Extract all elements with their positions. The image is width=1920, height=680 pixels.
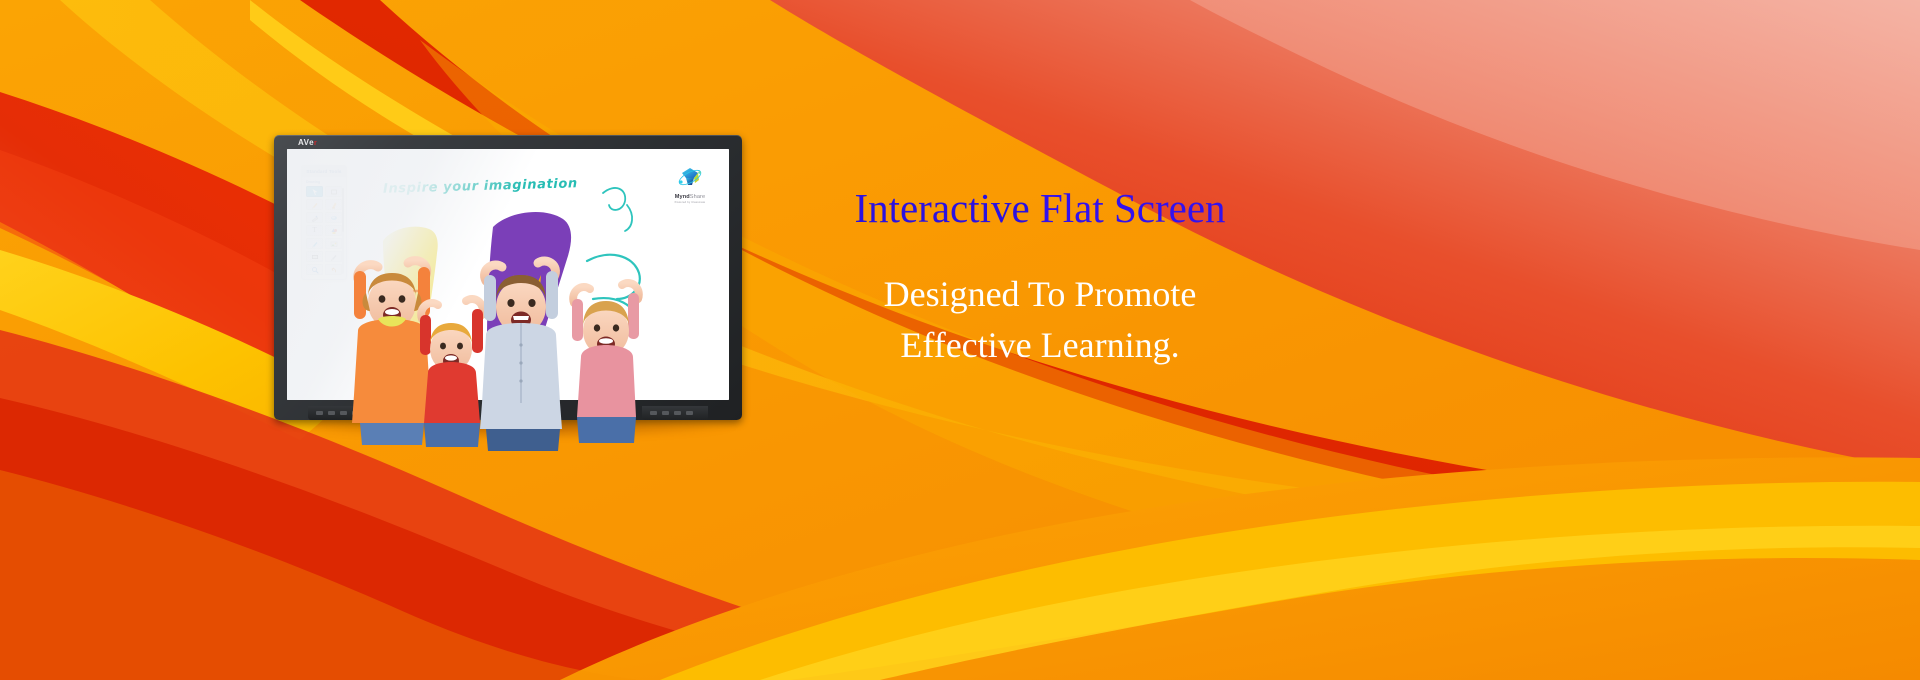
child-orange: [352, 261, 432, 445]
subheading-line-1: Designed To Promote: [805, 269, 1275, 320]
hero-banner: AVer: [0, 0, 1920, 680]
shape-rectangle-tool[interactable]: [325, 186, 342, 197]
hero-subheading: Designed To Promote Effective Learning.: [805, 269, 1275, 371]
children-photo: [330, 245, 680, 460]
myndshare-wordmark: MyndShare: [663, 194, 717, 200]
subheading-line-2: Effective Learning.: [805, 320, 1275, 371]
pen-tool[interactable]: [306, 238, 323, 249]
page-title: Interactive Flat Screen: [805, 186, 1275, 231]
headline-part-2: Flat Screen: [1040, 185, 1226, 231]
text-tool[interactable]: T: [306, 225, 323, 236]
eraser-tool[interactable]: [325, 212, 342, 223]
myndshare-logo: MyndShare Powered by Classmate: [663, 163, 717, 204]
tools-scrollbar-thumb[interactable]: [342, 188, 345, 232]
child-red: [420, 299, 483, 447]
headline-part-1: Interactive: [854, 185, 1040, 231]
myndshare-tagline: Powered by Classmate: [663, 201, 717, 204]
highlighter-tool[interactable]: [325, 199, 342, 210]
select-cursor-tool[interactable]: [306, 186, 323, 197]
marker-pen-tool[interactable]: [306, 199, 323, 210]
color-palette-tool[interactable]: [325, 225, 342, 236]
ruler-tool[interactable]: [306, 212, 323, 223]
standard-tools-title: Standard Tools: [302, 166, 346, 177]
child-pink: [572, 283, 639, 443]
hero-copy: Interactive Flat Screen Designed To Prom…: [805, 186, 1275, 371]
drawing-section-label: Drawing: [302, 177, 346, 186]
zoom-tool[interactable]: [306, 264, 323, 275]
child-blue-shirt: [480, 261, 562, 451]
aver-brand-logo: AVer: [298, 138, 317, 147]
screen-capture-tool[interactable]: [306, 251, 323, 262]
myndshare-mark-icon: [675, 163, 705, 193]
